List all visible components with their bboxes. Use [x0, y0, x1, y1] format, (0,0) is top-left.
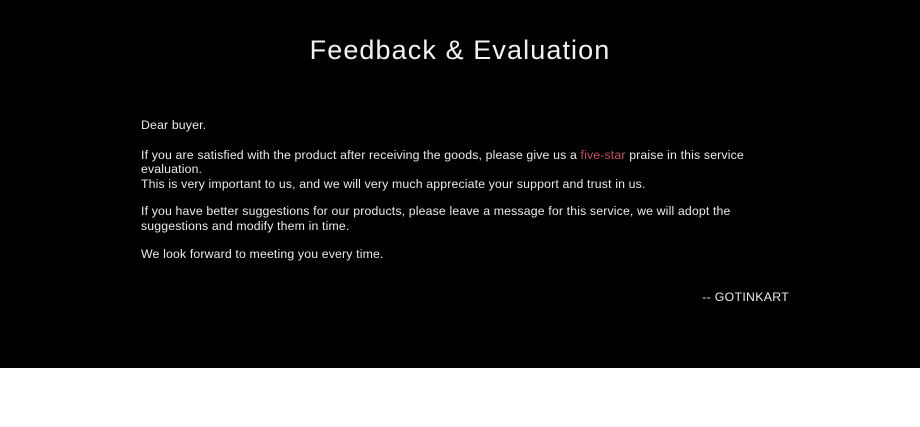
greeting-line: Dear buyer. [141, 118, 789, 133]
satisfied-text-before: If you are satisfied with the product af… [141, 148, 581, 162]
signature-line: -- GOTINKART [141, 289, 789, 305]
letter-body: Dear buyer. If you are satisfied with th… [141, 118, 789, 261]
page-title: Feedback & Evaluation [0, 33, 920, 67]
paragraph-suggestions: If you have better suggestions for our p… [141, 204, 789, 233]
paragraph-closing: We look forward to meeting you every tim… [141, 247, 789, 262]
banner-panel: Feedback & Evaluation Dear buyer. If you… [0, 0, 920, 368]
footer-whitespace [0, 368, 920, 427]
satisfied-second-line: This is very important to us, and we wil… [141, 177, 646, 191]
paragraph-satisfied: If you are satisfied with the product af… [141, 148, 789, 192]
feedback-evaluation-banner: Feedback & Evaluation Dear buyer. If you… [0, 0, 920, 427]
five-star-highlight: five-star [581, 148, 626, 162]
